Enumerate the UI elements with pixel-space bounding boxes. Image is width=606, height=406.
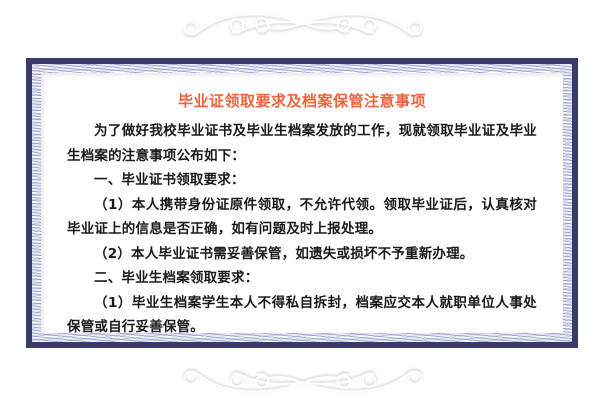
paragraph-intro: 为了做好我校毕业证书及毕业生档案发放的工作，现就领取毕业证及毕业生档案的注意事项… <box>67 119 537 168</box>
certificate-notice-page: 毕业证领取要求及档案保管注意事项 为了做好我校毕业证书及毕业生档案发放的工作，现… <box>0 0 606 406</box>
scroll-flourish-ornament-bottom <box>173 356 433 402</box>
paragraph-section-one-item-1: （1）本人携带身份证原件领取，不允许代领。领取毕业证后，认真核对毕业证上的信息是… <box>67 193 537 242</box>
paragraph-section-two-item-1: （1）毕业生档案学生本人不得私自拆封，档案应交本人就职单位人事处保管或自行妥善保… <box>67 291 537 334</box>
paragraph-section-two-heading: 二、毕业生档案领取要求： <box>67 266 537 291</box>
paragraph-section-one-item-2: （2）本人毕业证书需妥善保管，如遗失或损坏不予重新办理。 <box>67 242 537 267</box>
notice-body: 为了做好我校毕业证书及毕业生档案发放的工作，现就领取毕业证及毕业生档案的注意事项… <box>67 119 537 333</box>
paragraph-section-one-heading: 一、毕业证书领取要求： <box>67 168 537 193</box>
scroll-flourish-ornament-top <box>173 4 433 50</box>
decorative-frame: 毕业证领取要求及档案保管注意事项 为了做好我校毕业证书及毕业生档案发放的工作，现… <box>26 58 578 348</box>
notice-panel: 毕业证领取要求及档案保管注意事项 为了做好我校毕业证书及毕业生档案发放的工作，现… <box>41 73 563 333</box>
page-title: 毕业证领取要求及档案保管注意事项 <box>67 91 537 111</box>
